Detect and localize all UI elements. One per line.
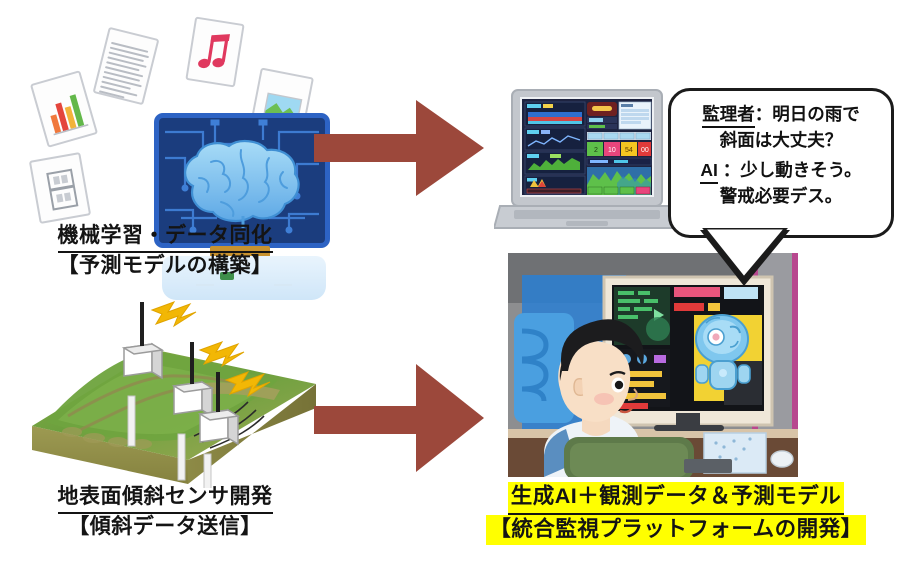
card-film: [29, 152, 91, 224]
ai-robot-icon: [696, 315, 750, 389]
caption-sensor-line1: 地表面傾斜センサ開発: [58, 484, 273, 514]
caption-platform-line2: 【統合監視プラットフォームの開発】: [486, 515, 865, 546]
music-note-icon: [187, 19, 245, 88]
caption-platform-line1: 生成AI＋観測データ＆予測モデル: [508, 482, 845, 515]
brain-icon: [177, 134, 307, 230]
arrow-sensor-to-platform: [312, 358, 488, 478]
caption-platform: 生成AI＋観測データ＆予測モデル 【統合監視プラットフォームの開発】: [452, 482, 900, 545]
bubble-line-1a-rest: ：明日の雨で: [755, 104, 860, 124]
ai-label: AI: [700, 158, 718, 184]
bubble-line-1a: 監理者：明日の雨で: [668, 102, 894, 128]
supervisor-label: 監理者: [702, 102, 755, 128]
right-arrow-icon: [312, 92, 488, 204]
bubble-line-1b: 斜面は大丈夫？: [668, 128, 894, 152]
svg-text:2: 2: [594, 147, 598, 154]
terrain-block-icon: [28, 288, 328, 488]
caption-sensor-line2: 【傾斜データ送信】: [0, 514, 330, 541]
bar-chart-icon: [32, 71, 98, 147]
bubble-line-2a: AI ：少し動きそう。: [668, 158, 894, 184]
laptop-icon: 2 10 54 00: [494, 88, 680, 238]
svg-text:54: 54: [625, 147, 633, 154]
speech-bubble-text: 監理者：明日の雨で 斜面は大丈夫？ AI ：少し動きそう。 警戒必要デス。: [668, 102, 894, 215]
diagram-canvas: 2 10 54 00: [0, 0, 900, 581]
speech-bubble-tail: [686, 228, 806, 290]
card-document-top: [93, 27, 160, 106]
slope-sensor-illustration: [28, 288, 328, 488]
bubble-line-2a-rest: ：少し動きそう。: [718, 160, 862, 180]
laptop-dashboard-illustration: 2 10 54 00: [494, 88, 680, 238]
card-bar-chart: [30, 70, 98, 148]
caption-ml-line2: 【予測モデルの構築】: [0, 253, 330, 280]
caption-machine-learning: 機械学習・データ同化 【予測モデルの構築】: [0, 223, 330, 280]
film-strip-icon: [31, 154, 91, 224]
svg-text:00: 00: [641, 147, 649, 154]
right-arrow-icon: [312, 358, 488, 478]
caption-sensor: 地表面傾斜センサ開発 【傾斜データ送信】: [0, 484, 330, 541]
svg-text:10: 10: [608, 147, 616, 154]
caption-ml-line1: 機械学習・データ同化: [58, 223, 273, 253]
machine-learning-illustration: [42, 18, 332, 223]
document-icon: [95, 29, 157, 103]
card-music: [185, 16, 244, 87]
bubble-line-2b: 警戒必要デス。: [668, 184, 894, 208]
arrow-ml-to-platform: [312, 92, 488, 204]
speech-bubble: 監理者：明日の雨で 斜面は大丈夫？ AI ：少し動きそう。 警戒必要デス。: [668, 88, 894, 238]
